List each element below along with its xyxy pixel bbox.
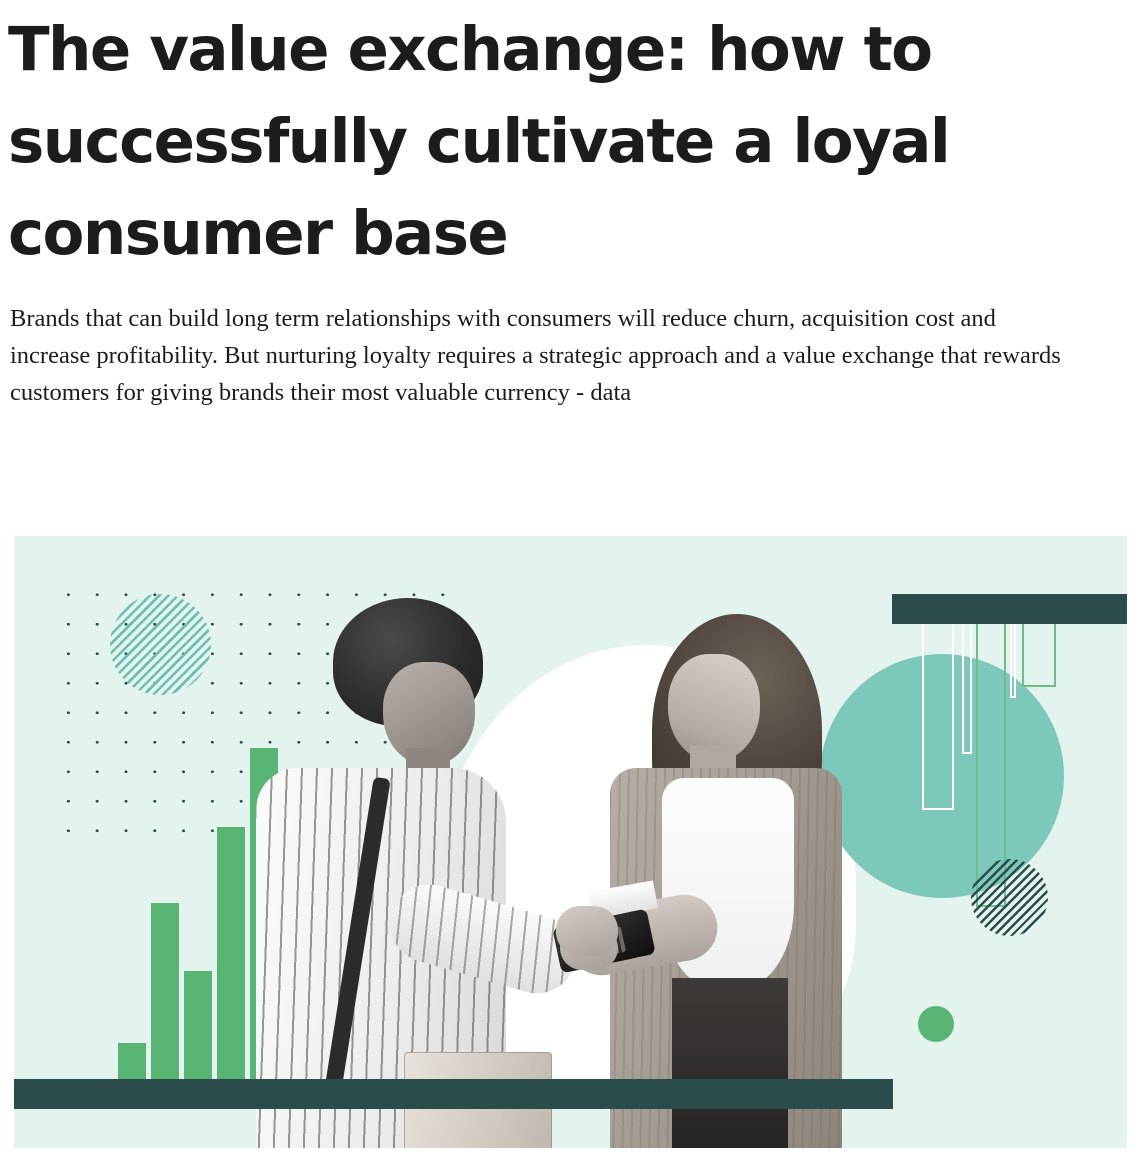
hero-image: [14, 536, 1127, 1148]
right-woman-hand: [556, 906, 618, 956]
hanging-bar-5: [1022, 624, 1056, 687]
hanging-bar-4: [1010, 624, 1016, 698]
hanging-bar-1: [922, 624, 954, 810]
dark-plinth-decor: [14, 1079, 893, 1109]
striped-circle-teal-decor: [110, 594, 211, 695]
article-standfirst: Brands that can build long term relation…: [10, 300, 1082, 411]
green-dot-decor: [918, 1006, 954, 1042]
shoppers-photo: [238, 570, 838, 1110]
page-title: The value exchange: how to successfully …: [8, 4, 1068, 280]
striped-circle-dark-decor: [971, 859, 1048, 936]
dark-top-bar-decor: [892, 594, 1127, 624]
hanging-bar-2: [962, 624, 972, 754]
article-container: The value exchange: how to successfully …: [0, 0, 1140, 1173]
bar-chart-bar: [151, 903, 179, 1108]
right-woman-jeans: [672, 978, 788, 1148]
